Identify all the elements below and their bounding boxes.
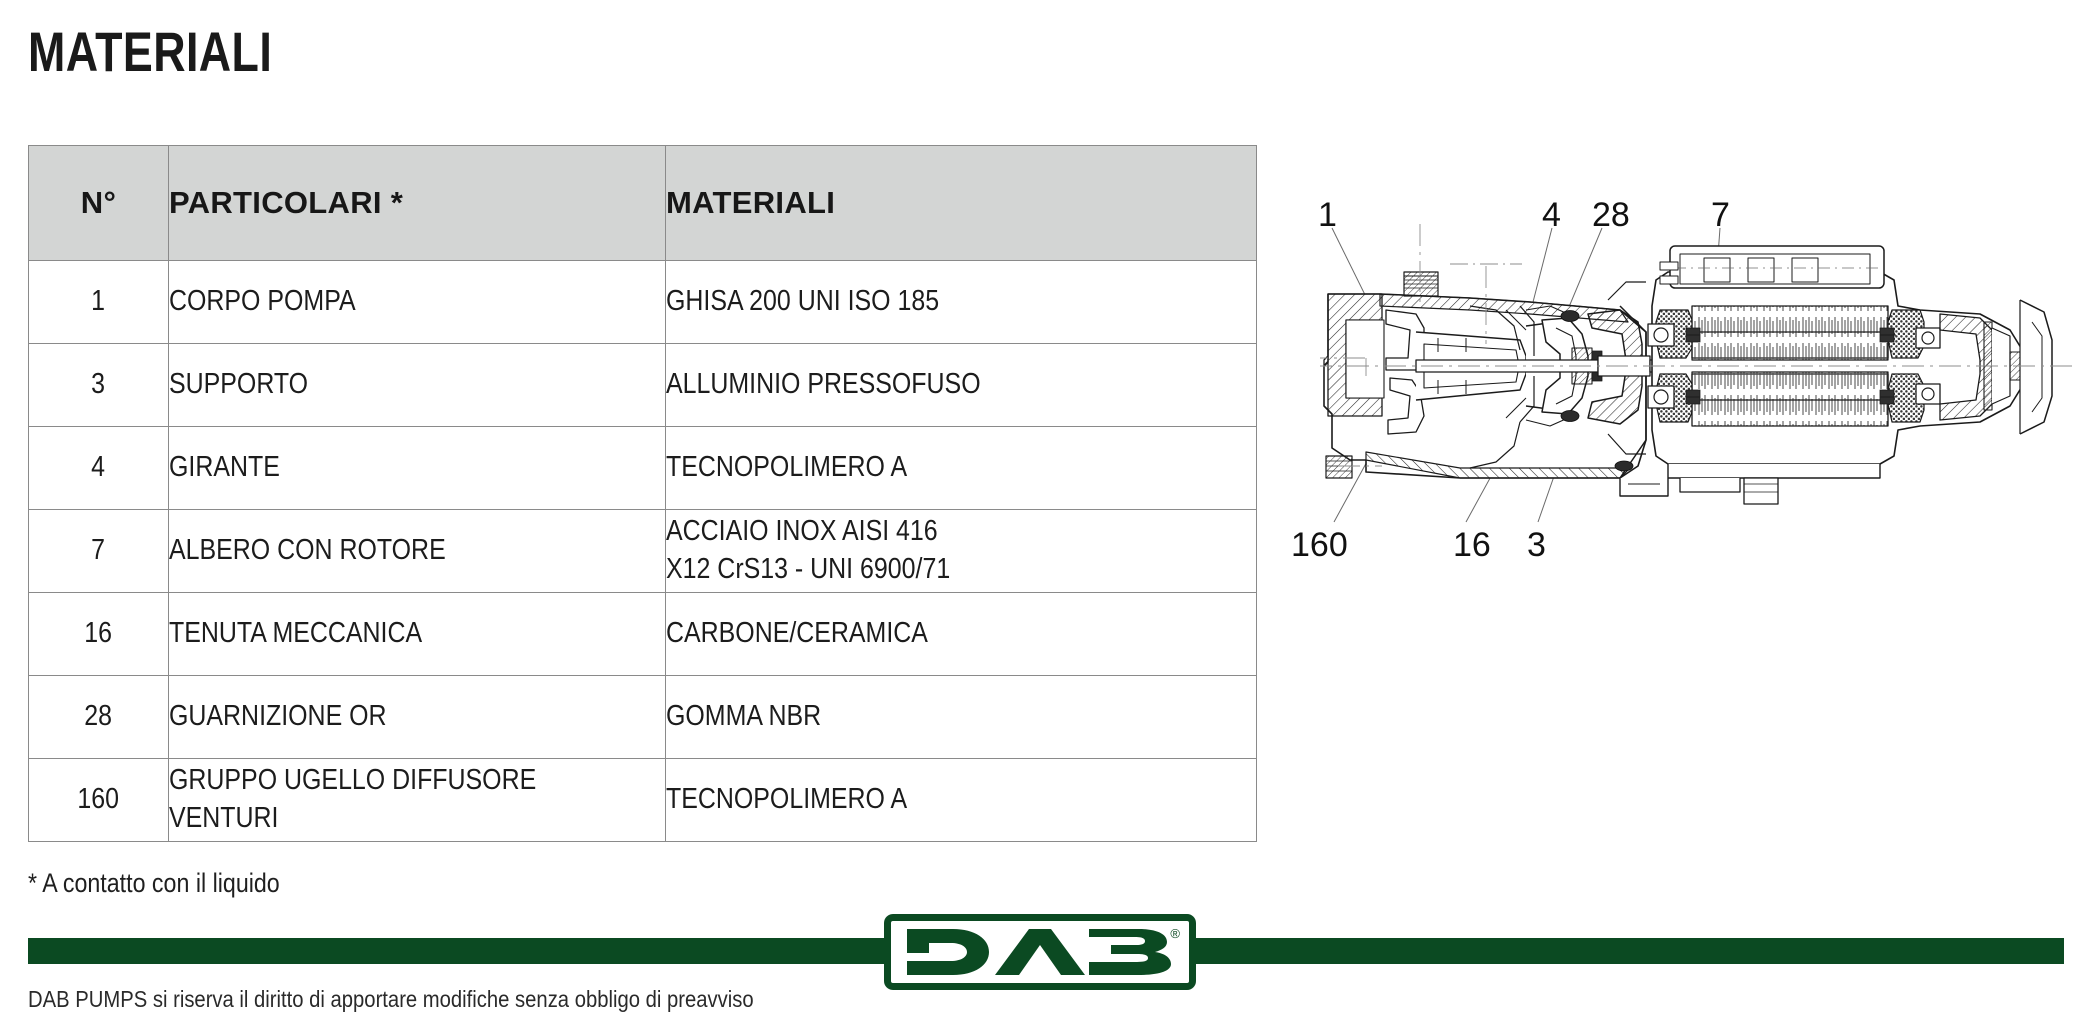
- cell-number-text: 7: [92, 532, 106, 570]
- cell-number: 16: [29, 593, 169, 676]
- cell-material: TECNOPOLIMERO A: [666, 427, 1257, 510]
- table-row: 1 CORPO POMPA GHISA 200 UNI ISO 185: [29, 261, 1257, 344]
- dab-logo-wordmark: [891, 921, 1189, 983]
- column-header-material: MATERIALI: [666, 146, 1257, 261]
- cell-number: 7: [29, 510, 169, 593]
- cell-material: ALLUMINIO PRESSOFUSO: [666, 344, 1257, 427]
- column-header-part-label: PARTICOLARI *: [169, 185, 403, 220]
- callout-label-7: 7: [1711, 198, 1730, 232]
- cell-material-text: ALLUMINIO PRESSOFUSO: [666, 366, 981, 404]
- table-row: 3 SUPPORTO ALLUMINIO PRESSOFUSO: [29, 344, 1257, 427]
- cell-number: 160: [29, 759, 169, 842]
- cell-material: GOMMA NBR: [666, 676, 1257, 759]
- table-row: 16 TENUTA MECCANICA CARBONE/CERAMICA: [29, 593, 1257, 676]
- callout-label-16: 16: [1453, 528, 1491, 562]
- materials-table: N° PARTICOLARI * MATERIALI 1 CORPO POMPA…: [28, 145, 1257, 842]
- callout-label-28: 28: [1592, 198, 1630, 232]
- table-header: N° PARTICOLARI * MATERIALI: [29, 146, 1257, 261]
- column-header-part: PARTICOLARI *: [169, 146, 666, 261]
- pump-section-svg: [1320, 210, 2080, 730]
- table-row: 4 GIRANTE TECNOPOLIMERO A: [29, 427, 1257, 510]
- cell-material: GHISA 200 UNI ISO 185: [666, 261, 1257, 344]
- cell-part: GRUPPO UGELLO DIFFUSORE VENTURI: [169, 759, 666, 842]
- pump-cross-section-drawing: 1 4 28 7 160 16 3: [1320, 210, 2080, 730]
- column-header-material-label: MATERIALI: [666, 185, 835, 220]
- cell-part-text: ALBERO CON ROTORE: [169, 532, 446, 570]
- cell-material: TECNOPOLIMERO A: [666, 759, 1257, 842]
- cell-material-text: TECNOPOLIMERO A: [666, 781, 907, 819]
- cell-part: TENUTA MECCANICA: [169, 593, 666, 676]
- page-title: MATERIALI: [28, 24, 272, 80]
- cell-number: 3: [29, 344, 169, 427]
- cell-number-text: 28: [85, 698, 113, 736]
- cell-number: 4: [29, 427, 169, 510]
- cell-part: GUARNIZIONE OR: [169, 676, 666, 759]
- cell-material: CARBONE/CERAMICA: [666, 593, 1257, 676]
- callout-label-160: 160: [1291, 528, 1348, 562]
- cell-material-text: GOMMA NBR: [666, 698, 821, 736]
- cell-number-text: 3: [92, 366, 106, 404]
- dab-logo: ®: [884, 914, 1196, 990]
- cell-part-text: TENUTA MECCANICA: [169, 615, 422, 653]
- cell-material: ACCIAIO INOX AISI 416 X12 CrS13 - UNI 69…: [666, 510, 1257, 593]
- cell-material-text: TECNOPOLIMERO A: [666, 449, 907, 487]
- cell-part: GIRANTE: [169, 427, 666, 510]
- callout-label-4: 4: [1542, 198, 1561, 232]
- registered-trademark-icon: ®: [1170, 927, 1180, 940]
- cell-number: 28: [29, 676, 169, 759]
- cell-part-text: GRUPPO UGELLO DIFFUSORE VENTURI: [169, 762, 596, 837]
- cell-number-text: 16: [85, 615, 113, 653]
- cell-material-text: ACCIAIO INOX AISI 416 X12 CrS13 - UNI 69…: [666, 513, 950, 588]
- cell-material-text: CARBONE/CERAMICA: [666, 615, 928, 653]
- cell-number: 1: [29, 261, 169, 344]
- cell-part: SUPPORTO: [169, 344, 666, 427]
- table-row: 7 ALBERO CON ROTORE ACCIAIO INOX AISI 41…: [29, 510, 1257, 593]
- table-body: 1 CORPO POMPA GHISA 200 UNI ISO 185 3 SU…: [29, 261, 1257, 842]
- table-footnote: * A contatto con il liquido: [28, 868, 280, 899]
- cell-part-text: CORPO POMPA: [169, 283, 356, 321]
- column-header-number-label: N°: [81, 185, 116, 220]
- table-row: 28 GUARNIZIONE OR GOMMA NBR: [29, 676, 1257, 759]
- cell-part-text: SUPPORTO: [169, 366, 308, 404]
- table-header-row: N° PARTICOLARI * MATERIALI: [29, 146, 1257, 261]
- cell-number-text: 1: [92, 283, 106, 321]
- cell-part: CORPO POMPA: [169, 261, 666, 344]
- cell-part-text: GUARNIZIONE OR: [169, 698, 387, 736]
- cell-number-text: 160: [78, 781, 120, 819]
- cell-part-text: GIRANTE: [169, 449, 280, 487]
- cell-number-text: 4: [92, 449, 106, 487]
- cell-part: ALBERO CON ROTORE: [169, 510, 666, 593]
- callout-label-3: 3: [1527, 528, 1546, 562]
- footer-disclaimer: DAB PUMPS si riserva il diritto di appor…: [28, 986, 754, 1013]
- cell-material-text: GHISA 200 UNI ISO 185: [666, 283, 939, 321]
- table-row: 160 GRUPPO UGELLO DIFFUSORE VENTURI TECN…: [29, 759, 1257, 842]
- column-header-number: N°: [29, 146, 169, 261]
- callout-label-1: 1: [1318, 198, 1337, 232]
